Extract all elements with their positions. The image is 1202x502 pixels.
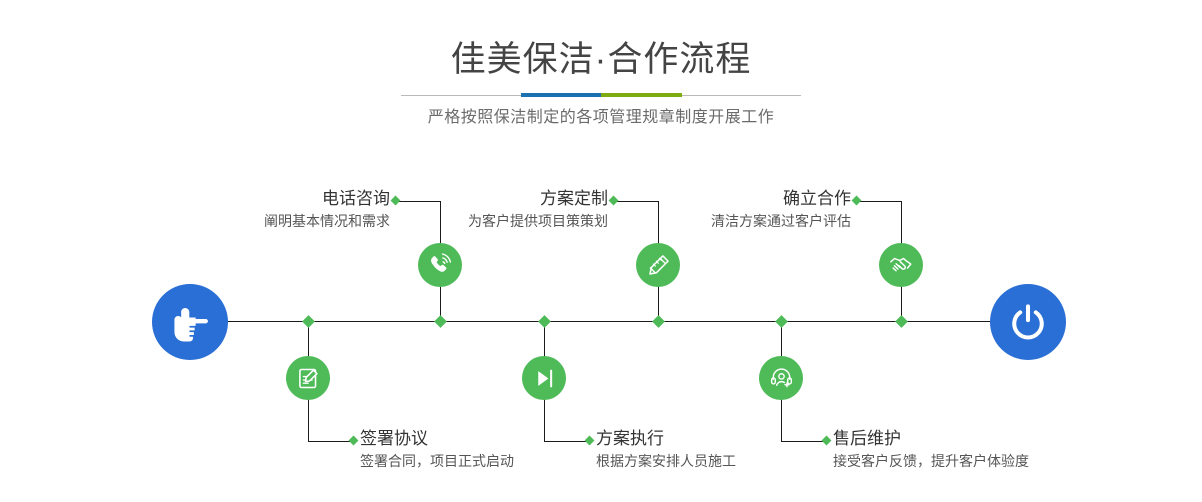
step-desc-2: 签署合同，项目正式启动 — [358, 450, 514, 472]
step-node-3[interactable] — [636, 243, 680, 287]
step-node-2[interactable] — [286, 356, 330, 400]
divider-segment-green — [601, 93, 682, 97]
connector-horizontal-step-1 — [396, 201, 441, 202]
label-marker-step-3 — [609, 196, 619, 206]
handshake-icon — [888, 252, 914, 278]
timeline-end-endpoint — [990, 284, 1066, 360]
step-desc-3: 为客户提供项目策策划 — [380, 210, 608, 232]
connector-horizontal-step-2 — [308, 441, 353, 442]
title-divider — [401, 93, 801, 97]
step-desc-4: 根据方案安排人员施工 — [594, 450, 736, 472]
step-desc-5: 清洁方案通过客户评估 — [626, 210, 851, 232]
step-node-6[interactable] — [759, 356, 803, 400]
step-label-2: 签署协议 签署合同，项目正式启动 — [358, 428, 514, 472]
label-marker-step-4 — [585, 436, 595, 446]
step-desc-6: 接受客户反馈，提升客户体验度 — [831, 450, 1029, 472]
power-icon — [1006, 300, 1050, 344]
page-title: 佳美保洁·合作流程 — [0, 38, 1202, 82]
axis-marker-step-1 — [434, 315, 447, 328]
document-edit-icon — [296, 366, 321, 391]
step-title-6: 售后维护 — [831, 428, 1029, 450]
step-title-3: 方案定制 — [380, 188, 608, 210]
axis-marker-step-4 — [538, 315, 551, 328]
axis-marker-step-6 — [775, 315, 788, 328]
axis-marker-step-5 — [895, 315, 908, 328]
step-title-4: 方案执行 — [594, 428, 736, 450]
axis-marker-step-2 — [302, 315, 315, 328]
connector-horizontal-step-4 — [544, 441, 589, 442]
step-desc-1: 阐明基本情况和需求 — [152, 210, 390, 232]
step-label-1: 电话咨询 阐明基本情况和需求 — [152, 188, 390, 232]
step-label-6: 售后维护 接受客户反馈，提升客户体验度 — [831, 428, 1029, 472]
step-label-4: 方案执行 根据方案安排人员施工 — [594, 428, 736, 472]
axis-marker-step-3 — [652, 315, 665, 328]
page-subtitle: 严格按照保洁制定的各项管理规章制度开展工作 — [0, 106, 1202, 130]
connector-horizontal-step-5 — [857, 201, 902, 202]
divider-segment-blue — [521, 93, 601, 97]
play-skip-icon — [532, 366, 557, 391]
pencil-ruler-icon — [646, 253, 671, 278]
connector-horizontal-step-6 — [781, 441, 826, 442]
connector-horizontal-step-3 — [614, 201, 659, 202]
pointing-hand-icon — [169, 301, 211, 343]
label-marker-step-5 — [852, 196, 862, 206]
step-label-5: 确立合作 清洁方案通过客户评估 — [626, 188, 851, 232]
step-node-1[interactable] — [418, 243, 462, 287]
timeline-start-endpoint — [152, 284, 228, 360]
step-node-4[interactable] — [522, 356, 566, 400]
step-node-5[interactable] — [879, 243, 923, 287]
step-label-3: 方案定制 为客户提供项目策策划 — [380, 188, 608, 232]
step-title-2: 签署协议 — [358, 428, 514, 450]
step-title-1: 电话咨询 — [152, 188, 390, 210]
step-title-5: 确立合作 — [626, 188, 851, 210]
phone-call-icon — [427, 252, 453, 278]
headset-support-icon — [769, 366, 794, 391]
label-marker-step-6 — [822, 436, 832, 446]
label-marker-step-2 — [349, 436, 359, 446]
cooperation-process-infographic: 佳美保洁·合作流程 严格按照保洁制定的各项管理规章制度开展工作 — [0, 0, 1202, 502]
